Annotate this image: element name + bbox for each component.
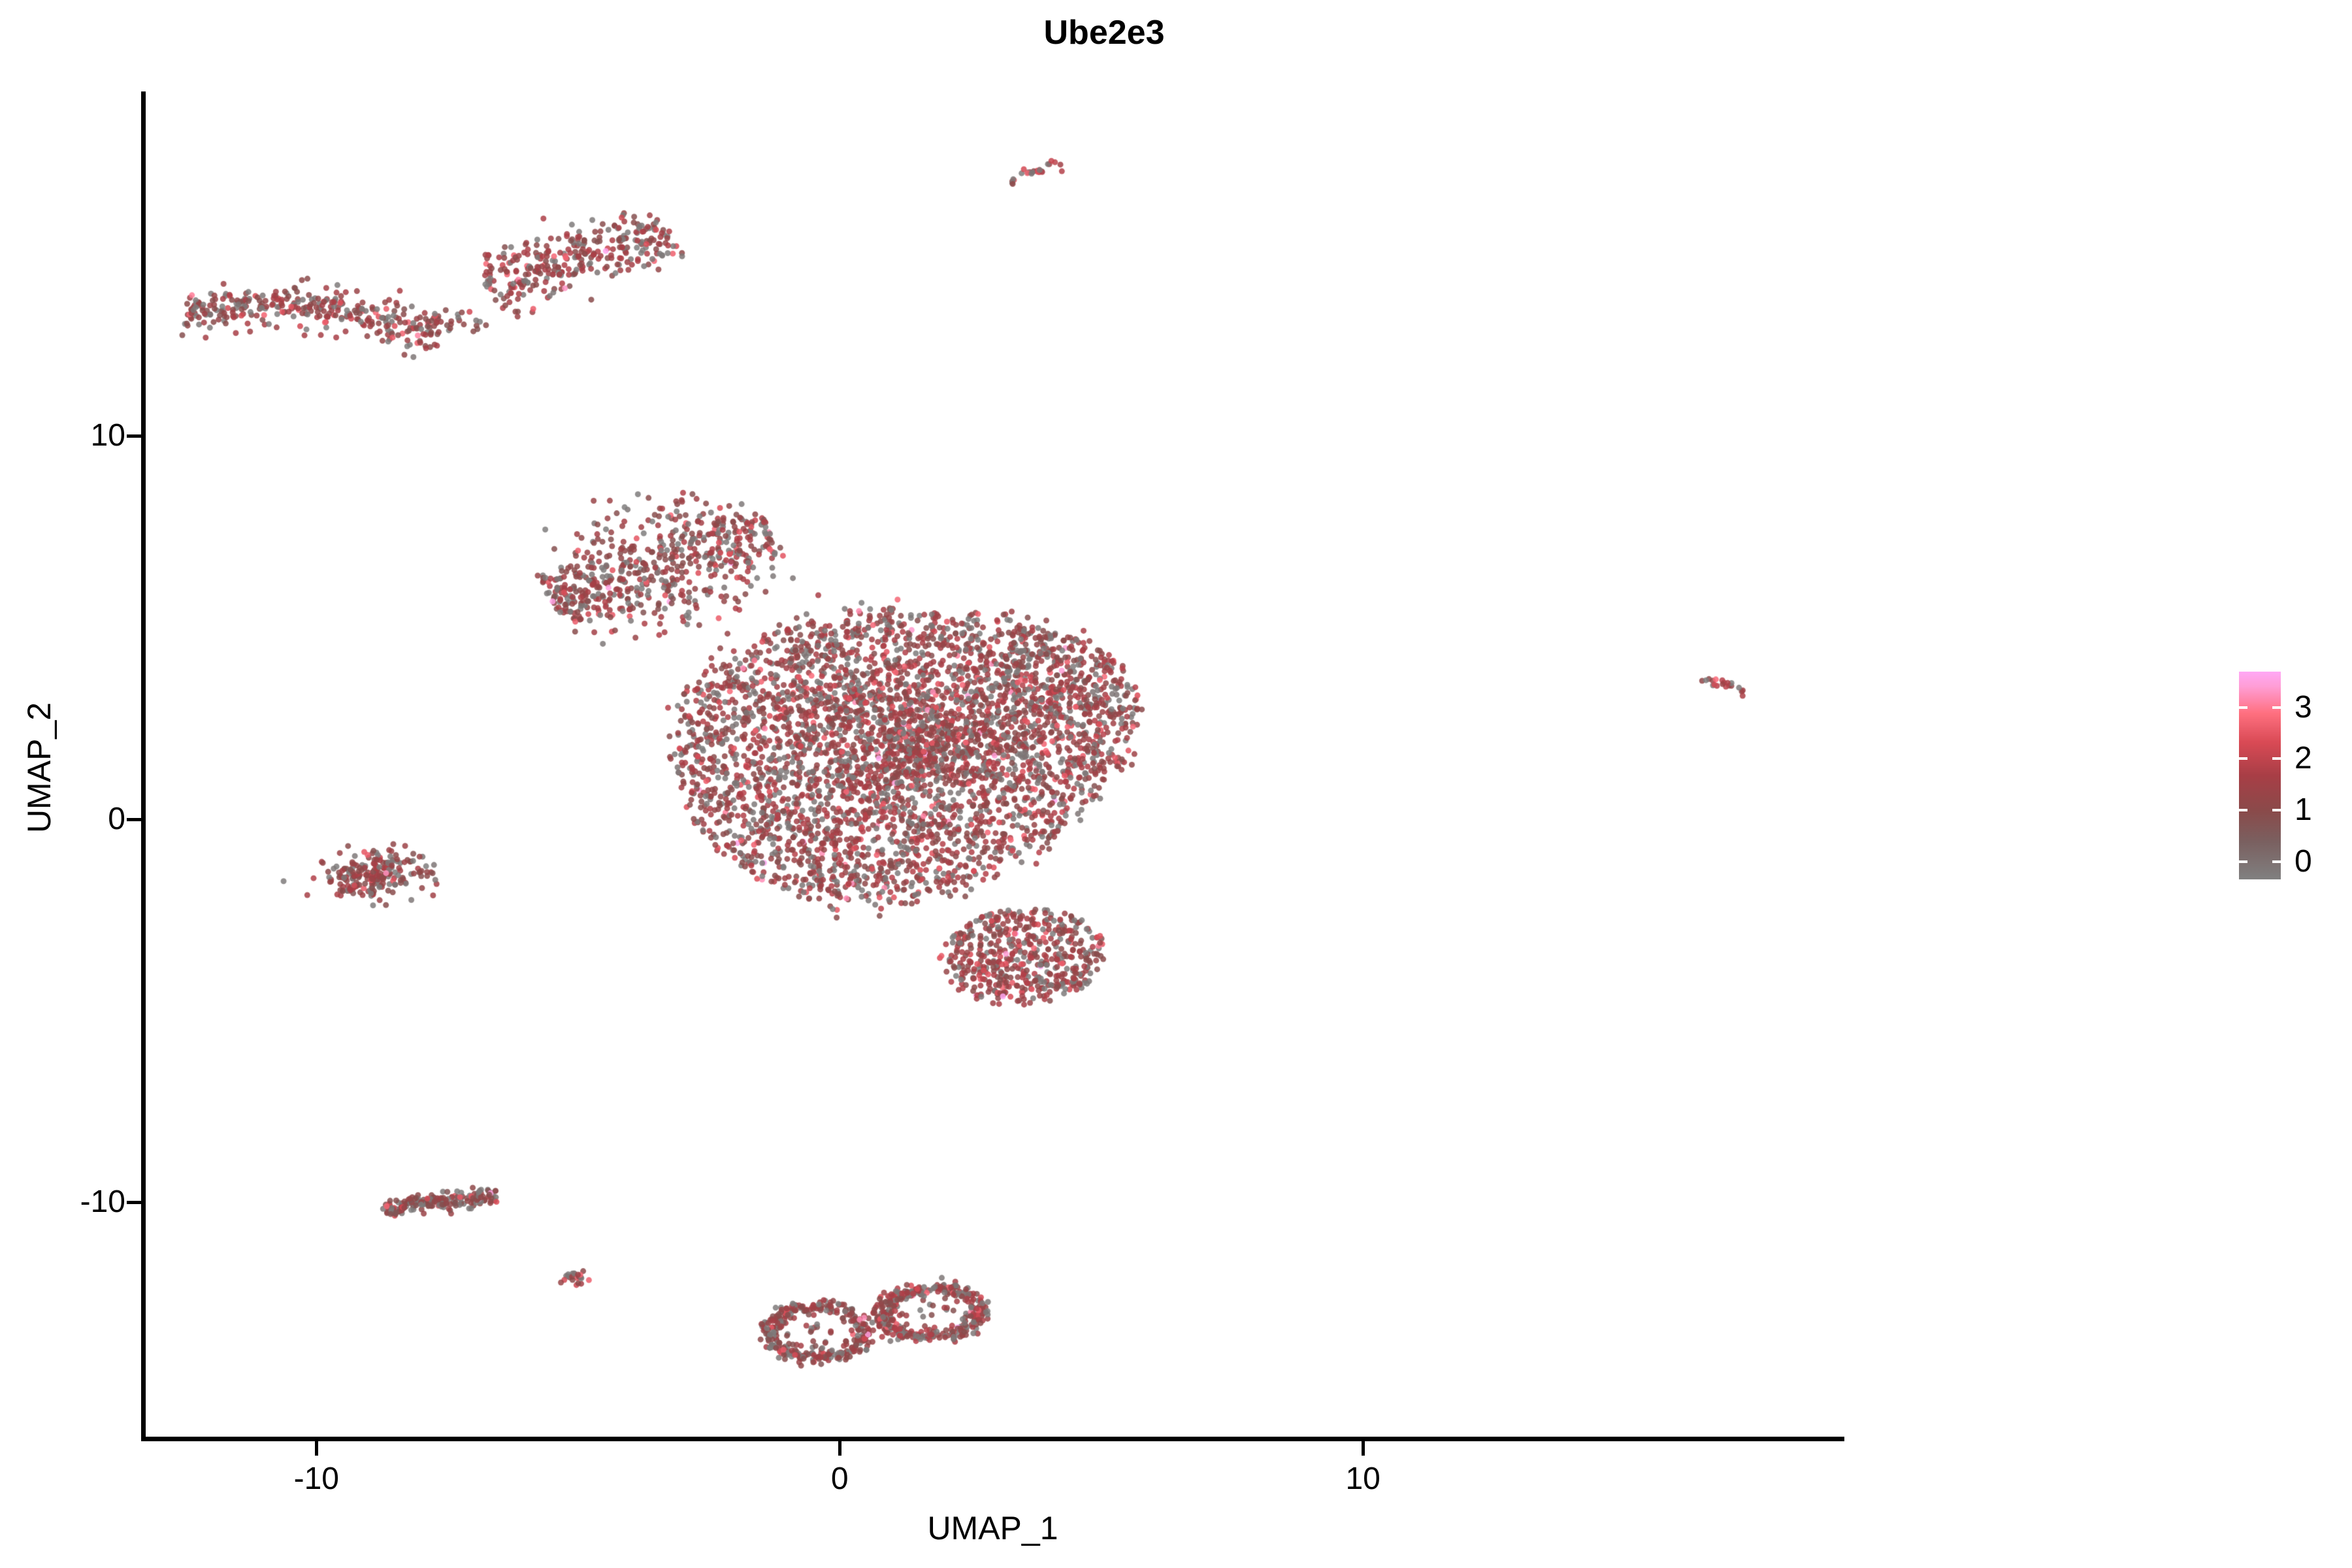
scatter-canvas [144, 91, 1844, 1439]
colorbar-tick-label: 3 [2295, 692, 2312, 723]
x-axis-title: UMAP_1 [141, 1509, 1844, 1547]
x-tick-label: 10 [1298, 1461, 1428, 1497]
y-tick-mark [127, 1201, 141, 1204]
colorbar-tick-break [2239, 706, 2247, 709]
y-tick-mark [127, 818, 141, 821]
x-axis-line [141, 1437, 1844, 1441]
y-axis-title: UMAP_2 [20, 637, 58, 898]
feature-plot-figure: Ube2e3 -10010 -10010 UMAP_1 UMAP_2 0123 [0, 0, 2352, 1568]
x-tick-label: 0 [774, 1461, 905, 1497]
colorbar-tick-break [2272, 860, 2281, 863]
colorbar-tick-break [2239, 809, 2247, 811]
colorbar-tick-label: 0 [2295, 846, 2312, 877]
colorbar-tick-label: 1 [2295, 794, 2312, 826]
x-tick-label: -10 [251, 1461, 382, 1497]
colorbar-tick-label: 2 [2295, 743, 2312, 774]
plot-panel [144, 91, 1844, 1439]
y-axis-line [141, 91, 146, 1440]
colorbar-gradient [2239, 672, 2281, 879]
colorbar-tick-break [2272, 757, 2281, 760]
y-tick-label: -10 [80, 1184, 125, 1220]
colorbar-tick-break [2239, 860, 2247, 863]
colorbar-legend: 0123 [2234, 666, 2345, 889]
page-title: Ube2e3 [0, 13, 2208, 52]
colorbar-tick-break [2272, 809, 2281, 811]
y-tick-mark [127, 434, 141, 438]
x-tick-mark [838, 1441, 841, 1456]
x-tick-mark [1362, 1441, 1365, 1456]
colorbar-tick-break [2239, 757, 2247, 760]
x-tick-mark [315, 1441, 318, 1456]
y-tick-label: 10 [91, 417, 125, 453]
colorbar-tick-break [2272, 706, 2281, 709]
y-tick-label: 0 [108, 801, 125, 837]
